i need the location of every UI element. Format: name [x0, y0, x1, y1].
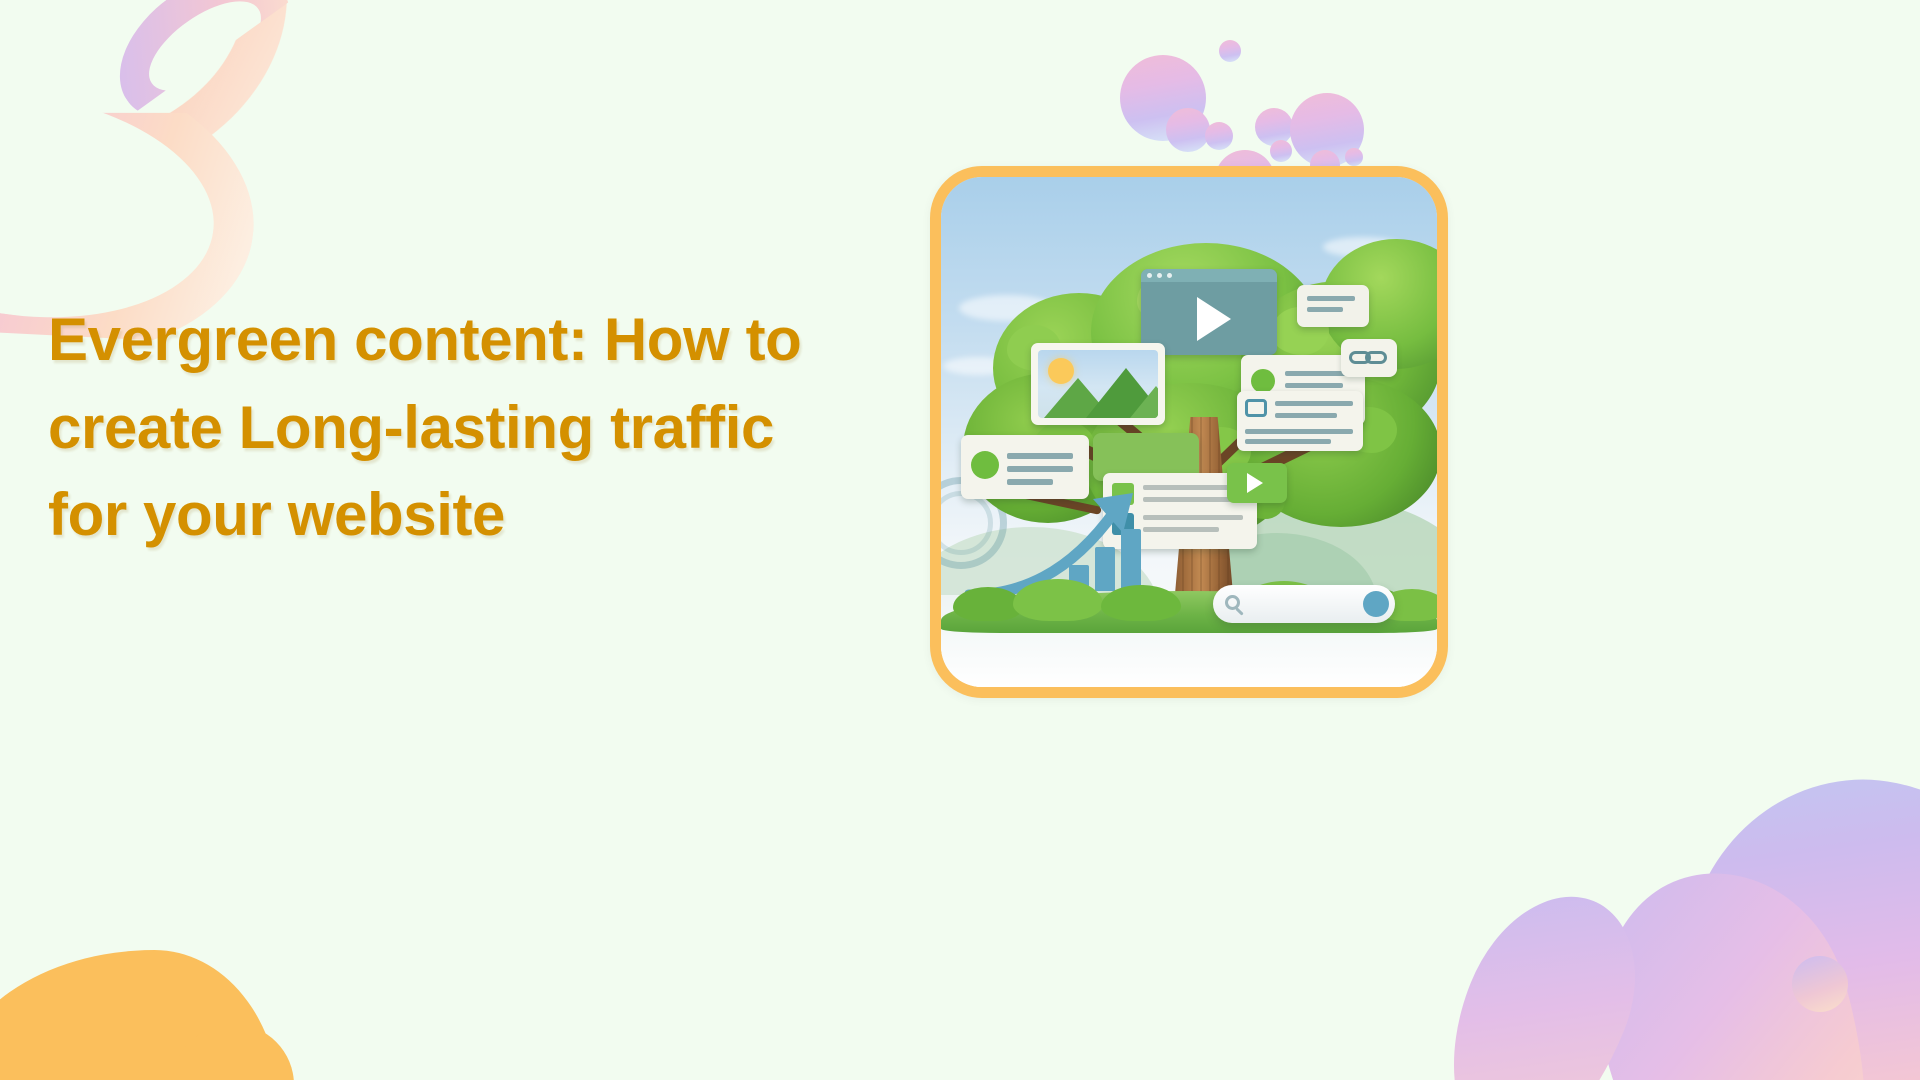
article-preview-card	[1237, 391, 1363, 451]
gradient-bubble	[1219, 40, 1241, 62]
orange-blob-small	[172, 1024, 294, 1080]
play-button-icon	[1247, 473, 1263, 493]
gradient-bubble	[1120, 55, 1206, 141]
gradient-bubble	[1290, 93, 1364, 167]
chain-link-icon	[1341, 339, 1397, 377]
text-line	[1275, 401, 1353, 406]
text-line	[1245, 439, 1331, 444]
play-button-icon	[1197, 297, 1231, 341]
page-title-line-3: for your website	[48, 481, 505, 548]
gradient-blob-bottom-right-c	[1415, 870, 1664, 1080]
poster-canvas: Evergreen content: How to create Long-la…	[0, 0, 1920, 1080]
text-line	[1307, 296, 1355, 301]
gradient-bubble	[1270, 140, 1292, 162]
gradient-bubble	[1205, 122, 1233, 150]
text-line	[1275, 413, 1337, 418]
text-line	[1007, 453, 1073, 459]
text-line	[1307, 307, 1343, 312]
bush-shape	[1013, 579, 1103, 621]
gradient-ribbon-top-left-a	[0, 0, 331, 234]
window-dot-icon	[1147, 273, 1152, 278]
search-input-pill[interactable]	[1213, 585, 1395, 623]
gradient-blob-bottom-right-a	[1640, 747, 1920, 1080]
search-submit-button[interactable]	[1363, 591, 1389, 617]
tree-content-illustration	[941, 177, 1437, 687]
gradient-ribbon-top-left-c	[93, 0, 317, 150]
window-dot-icon	[1157, 273, 1162, 278]
video-player-card	[1141, 269, 1277, 355]
gradient-bubble	[1345, 148, 1363, 166]
gradient-blob-bottom-right-b	[1565, 843, 1916, 1080]
chat-icon	[1245, 399, 1267, 417]
video-player-card	[1227, 463, 1287, 503]
window-dot-icon	[1167, 273, 1172, 278]
search-icon	[1225, 595, 1240, 610]
avatar	[1251, 369, 1275, 393]
text-line	[1285, 383, 1343, 388]
gradient-bubble	[1255, 108, 1293, 146]
bush-shape	[1101, 585, 1181, 621]
page-title: Evergreen content: How to create Long-la…	[48, 296, 878, 559]
avatar	[971, 451, 999, 479]
photo-preview	[1038, 350, 1158, 418]
orange-blob-large	[0, 950, 280, 1080]
photo-thumbnail-card	[1031, 343, 1165, 425]
hero-image-card	[930, 166, 1448, 698]
page-title-line-2: create Long-lasting traffic	[48, 394, 774, 461]
text-line	[1245, 429, 1353, 434]
gradient-bubble	[1166, 108, 1210, 152]
text-line	[1007, 466, 1073, 472]
chat-message-bubble	[1297, 285, 1369, 327]
page-title-line-1: Evergreen content: How to	[48, 306, 801, 373]
mountain-shape	[1130, 383, 1158, 418]
gradient-dot-bottom-right	[1792, 956, 1848, 1012]
